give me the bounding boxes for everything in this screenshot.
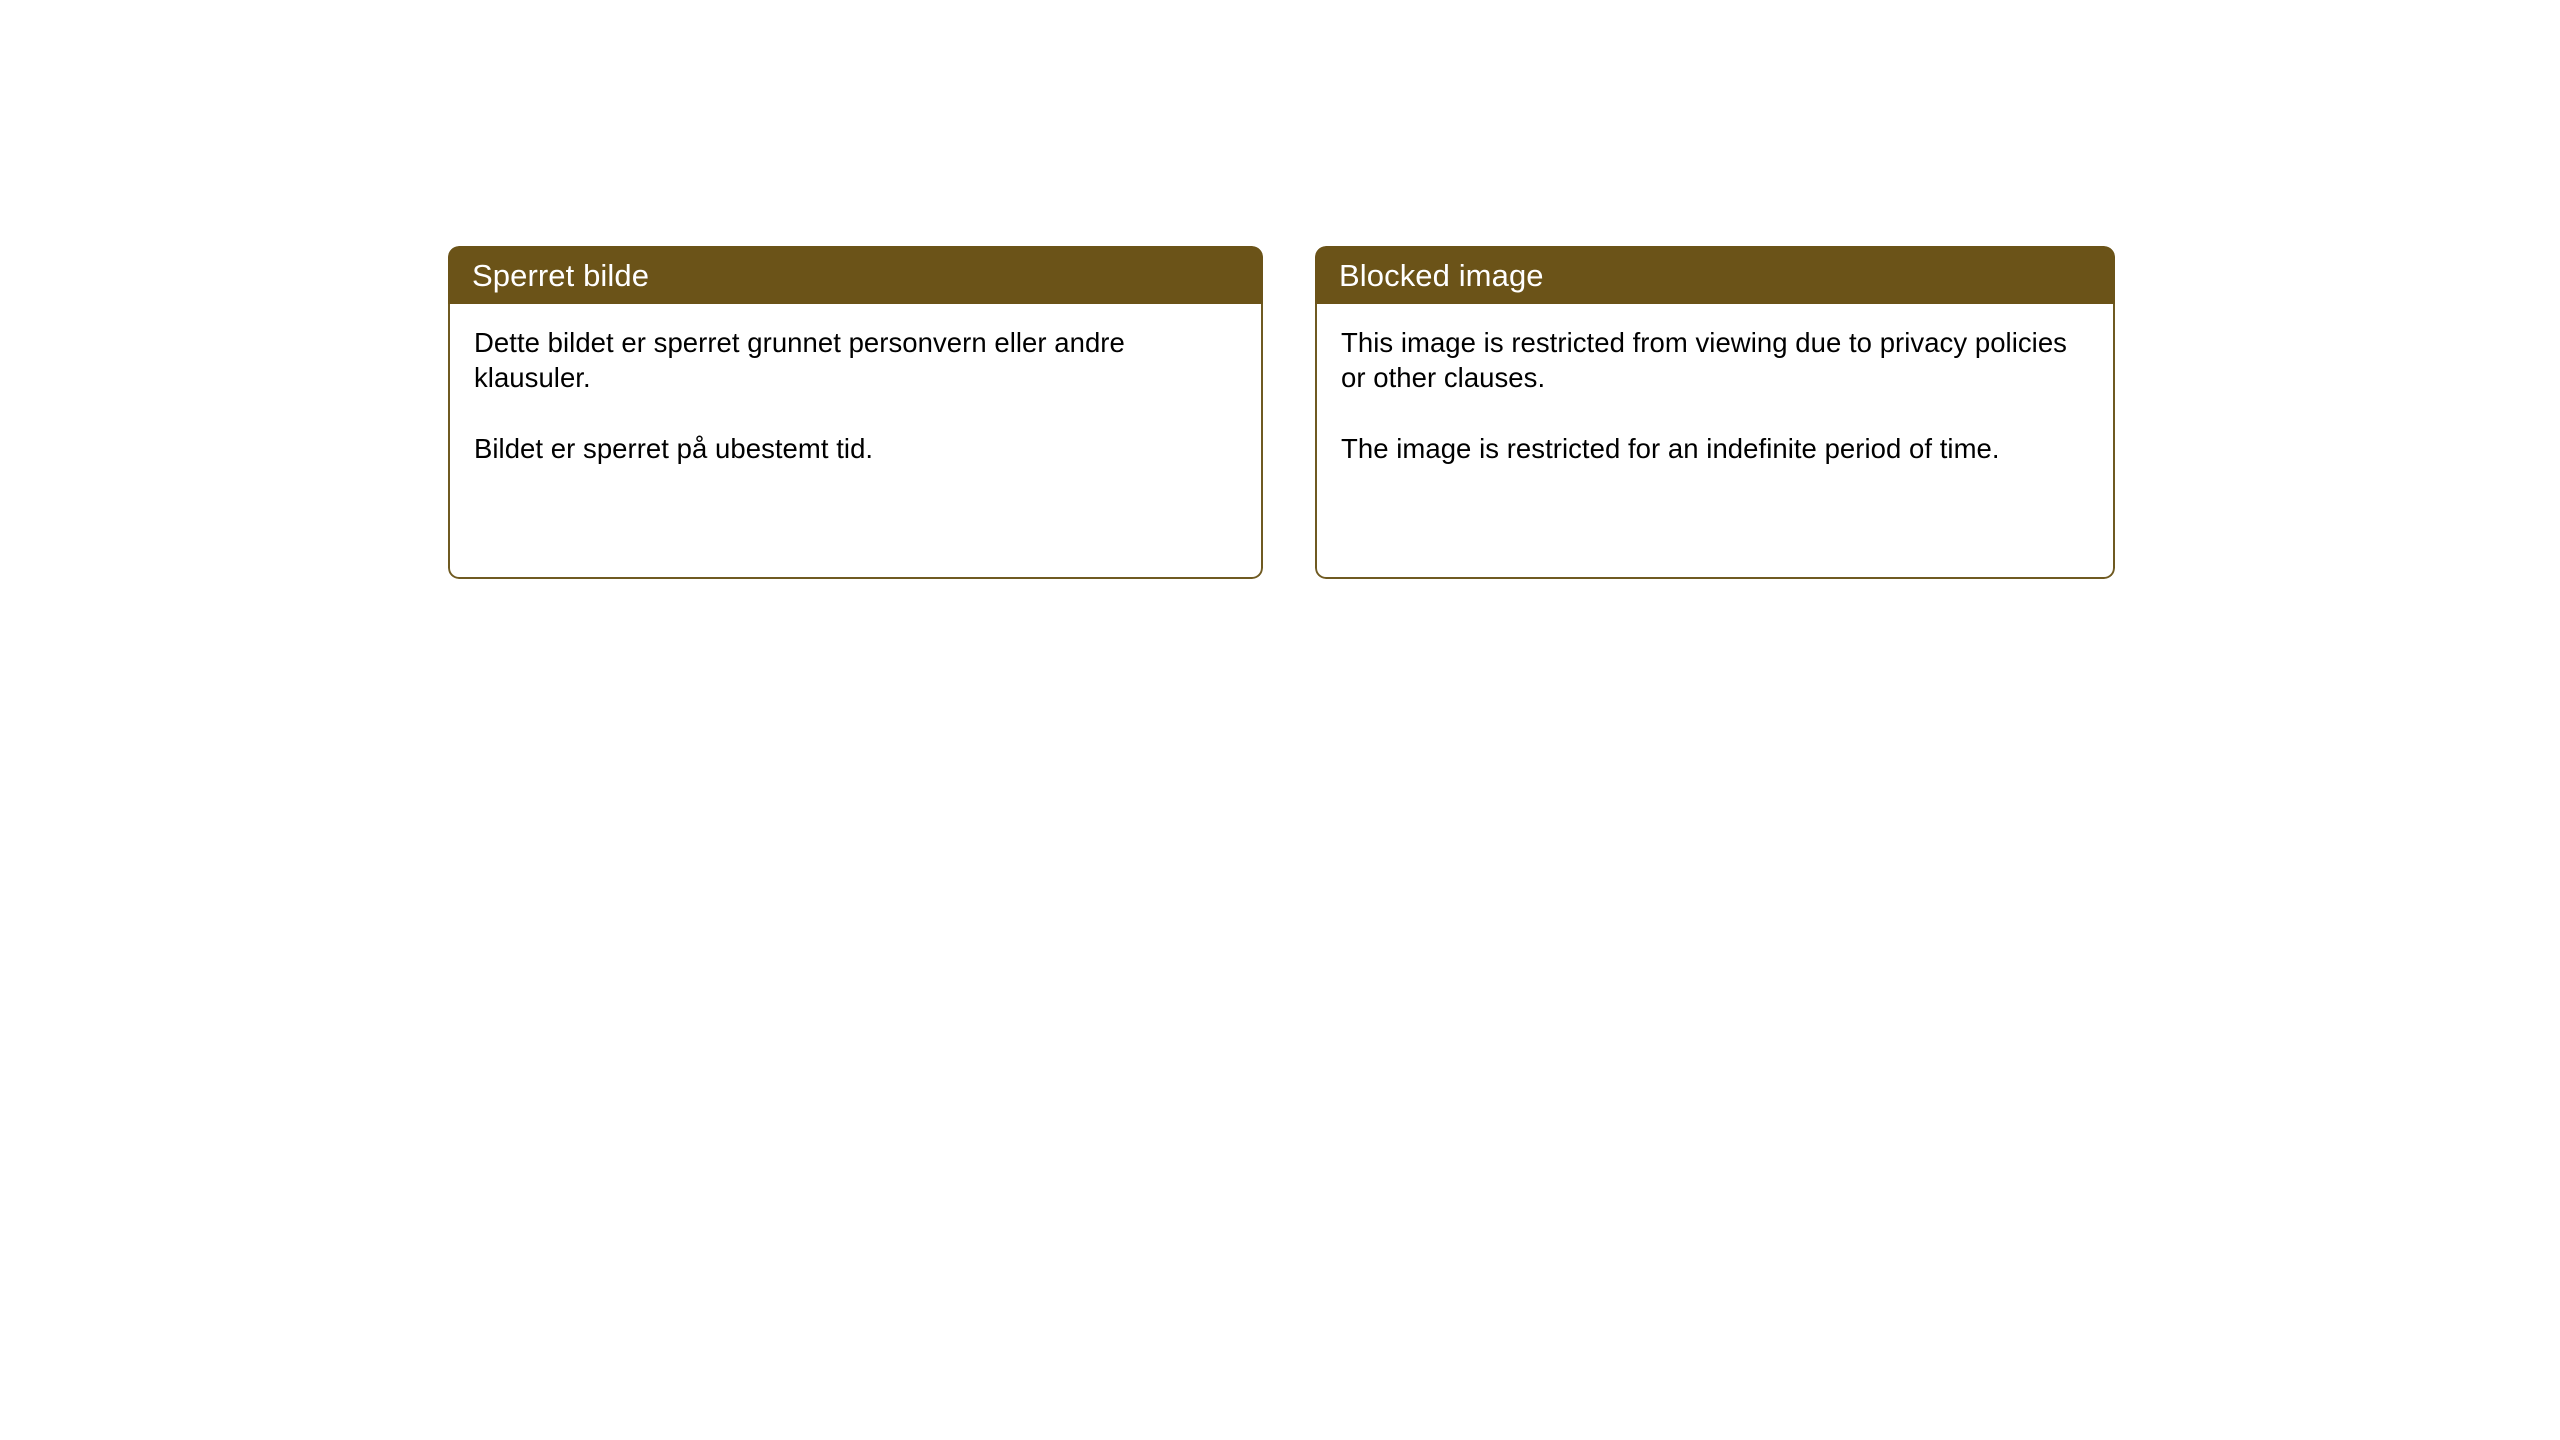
card-title-norwegian: Sperret bilde	[472, 260, 649, 291]
page-canvas: Sperret bilde Dette bildet er sperret gr…	[0, 0, 2560, 1440]
blocked-image-notice-card-english: Blocked image This image is restricted f…	[1315, 246, 2115, 579]
card-body-english: This image is restricted from viewing du…	[1315, 304, 2115, 579]
blocked-image-notice-card-norwegian: Sperret bilde Dette bildet er sperret gr…	[448, 246, 1263, 579]
card-paragraph-privacy-english: This image is restricted from viewing du…	[1341, 325, 2093, 396]
card-paragraph-privacy-norwegian: Dette bildet er sperret grunnet personve…	[474, 325, 1241, 396]
card-title-english: Blocked image	[1339, 260, 1544, 291]
card-header-english: Blocked image	[1315, 246, 2115, 304]
card-body-norwegian: Dette bildet er sperret grunnet personve…	[448, 304, 1263, 579]
card-paragraph-duration-norwegian: Bildet er sperret på ubestemt tid.	[474, 431, 1241, 466]
card-header-norwegian: Sperret bilde	[448, 246, 1263, 304]
card-paragraph-duration-english: The image is restricted for an indefinit…	[1341, 431, 2093, 466]
